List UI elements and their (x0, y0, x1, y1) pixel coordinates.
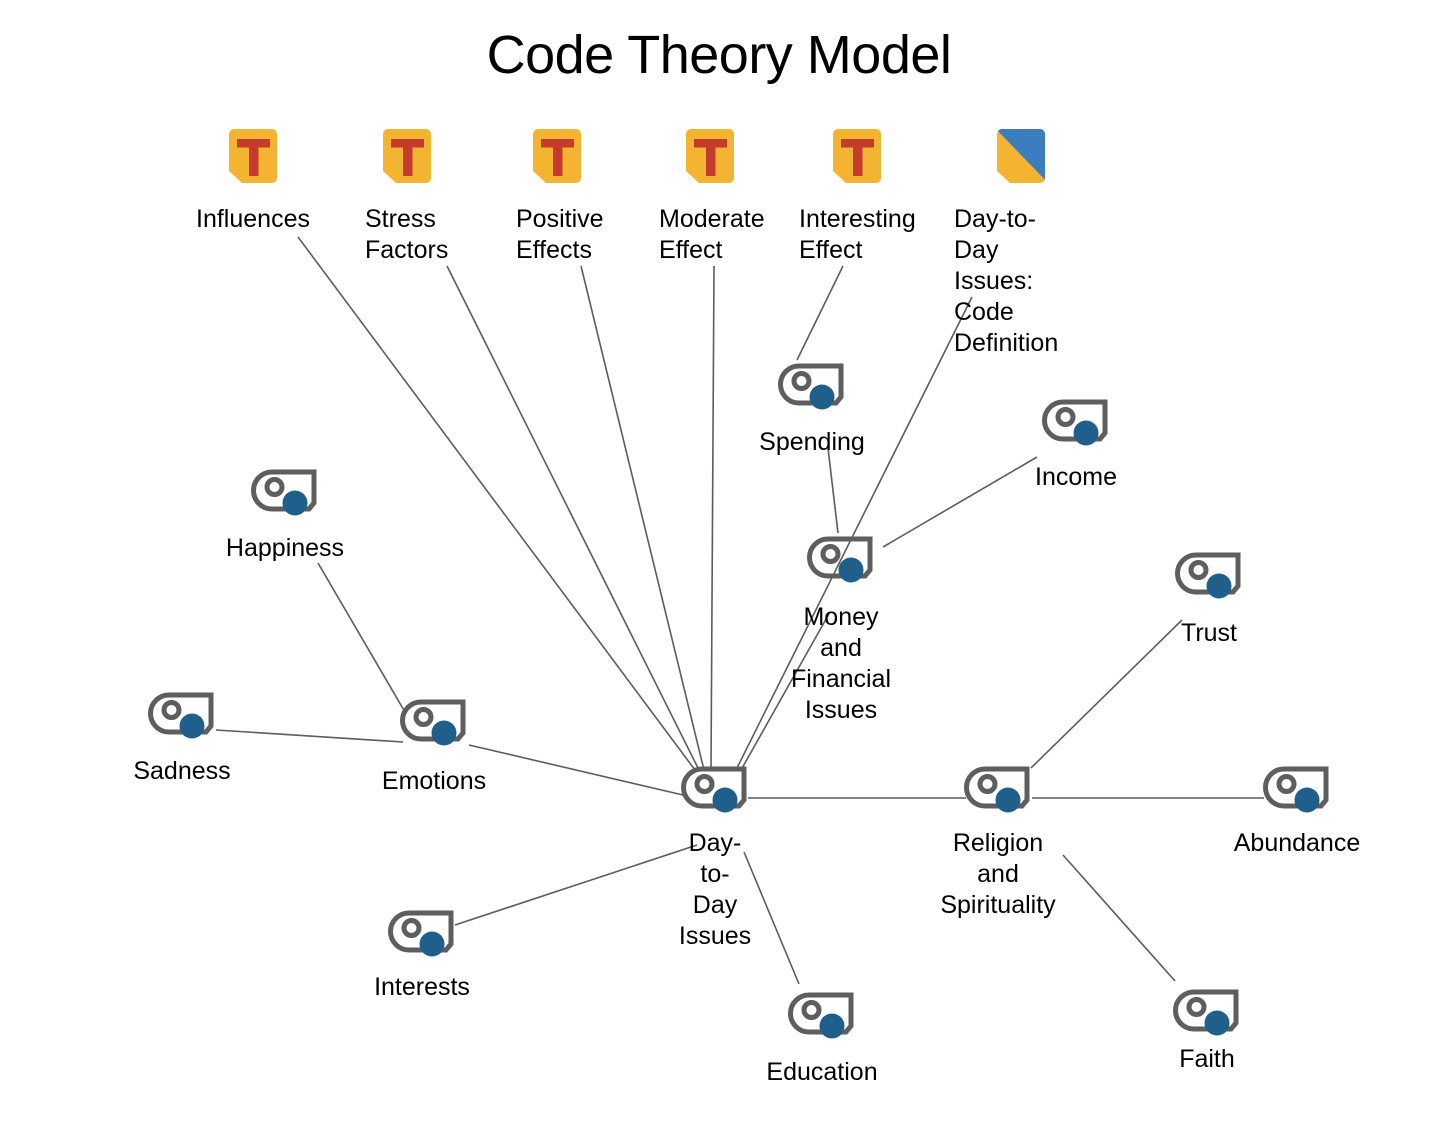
code-tag-icon[interactable] (965, 766, 1031, 812)
memo-label-definition: Day-to-Day Issues: Code Definition (954, 204, 1058, 359)
code-label-happiness: Happiness (226, 533, 344, 564)
text-memo-icon[interactable] (527, 128, 587, 190)
edge-education-daytoday (744, 852, 799, 984)
text-memo-icon[interactable] (377, 128, 437, 190)
text-memo-icon[interactable] (223, 128, 283, 190)
memo-label-interesting: Interesting Effect (799, 204, 916, 266)
code-label-spending: Spending (759, 427, 865, 458)
edge-spending-money (828, 448, 838, 533)
code-tag-icon[interactable] (1174, 989, 1240, 1035)
code-tag-icon[interactable] (789, 992, 855, 1038)
edge-emotions-daytoday (469, 745, 683, 795)
edge-moderate-daytoday (711, 266, 714, 770)
memo-label-influences: Influences (196, 204, 310, 235)
split-memo-icon[interactable] (991, 128, 1051, 190)
code-label-daytoday: Day-to-Day Issues (679, 828, 751, 952)
edge-positive-daytoday (581, 266, 704, 770)
memo-label-positive: Positive Effects (516, 204, 604, 266)
memo-label-stress: Stress Factors (365, 204, 448, 266)
code-tag-icon[interactable] (682, 766, 748, 812)
edge-income-money (883, 457, 1037, 547)
code-tag-icon[interactable] (1043, 399, 1109, 445)
edge-stress-daytoday (447, 266, 699, 770)
memo-label-moderate: Moderate Effect (659, 204, 765, 266)
edge-interests-daytoday (455, 845, 697, 925)
code-label-income: Income (1035, 462, 1117, 493)
code-label-faith: Faith (1179, 1044, 1235, 1075)
code-tag-icon[interactable] (1176, 552, 1242, 598)
code-label-education: Education (766, 1057, 877, 1088)
code-tag-icon[interactable] (252, 469, 318, 515)
text-memo-icon[interactable] (827, 128, 887, 190)
edge-sadness-emotions (216, 730, 403, 742)
page-title: Code Theory Model (0, 24, 1438, 86)
text-memo-icon[interactable] (680, 128, 740, 190)
code-tag-icon[interactable] (149, 692, 215, 738)
code-tag-icon[interactable] (389, 910, 455, 956)
code-label-trust: Trust (1181, 618, 1237, 649)
edge-religion-faith (1063, 855, 1175, 981)
code-tag-icon[interactable] (401, 699, 467, 745)
code-tag-icon[interactable] (1264, 766, 1330, 812)
code-label-money: Money and Financial Issues (791, 602, 891, 726)
code-label-abundance: Abundance (1234, 828, 1361, 859)
diagram-canvas: Code Theory Model InfluencesStress Facto… (0, 0, 1438, 1144)
edge-happiness-emotions (318, 563, 405, 712)
code-tag-icon[interactable] (808, 536, 874, 582)
code-label-interests: Interests (374, 972, 470, 1003)
code-label-emotions: Emotions (382, 766, 486, 797)
code-label-religion: Religion and Spirituality (940, 828, 1055, 921)
code-tag-icon[interactable] (779, 363, 845, 409)
edge-interesting-spending (797, 266, 843, 360)
edge-influences-daytoday (298, 237, 695, 770)
edge-religion-trust (1031, 620, 1182, 768)
code-label-sadness: Sadness (133, 756, 230, 787)
